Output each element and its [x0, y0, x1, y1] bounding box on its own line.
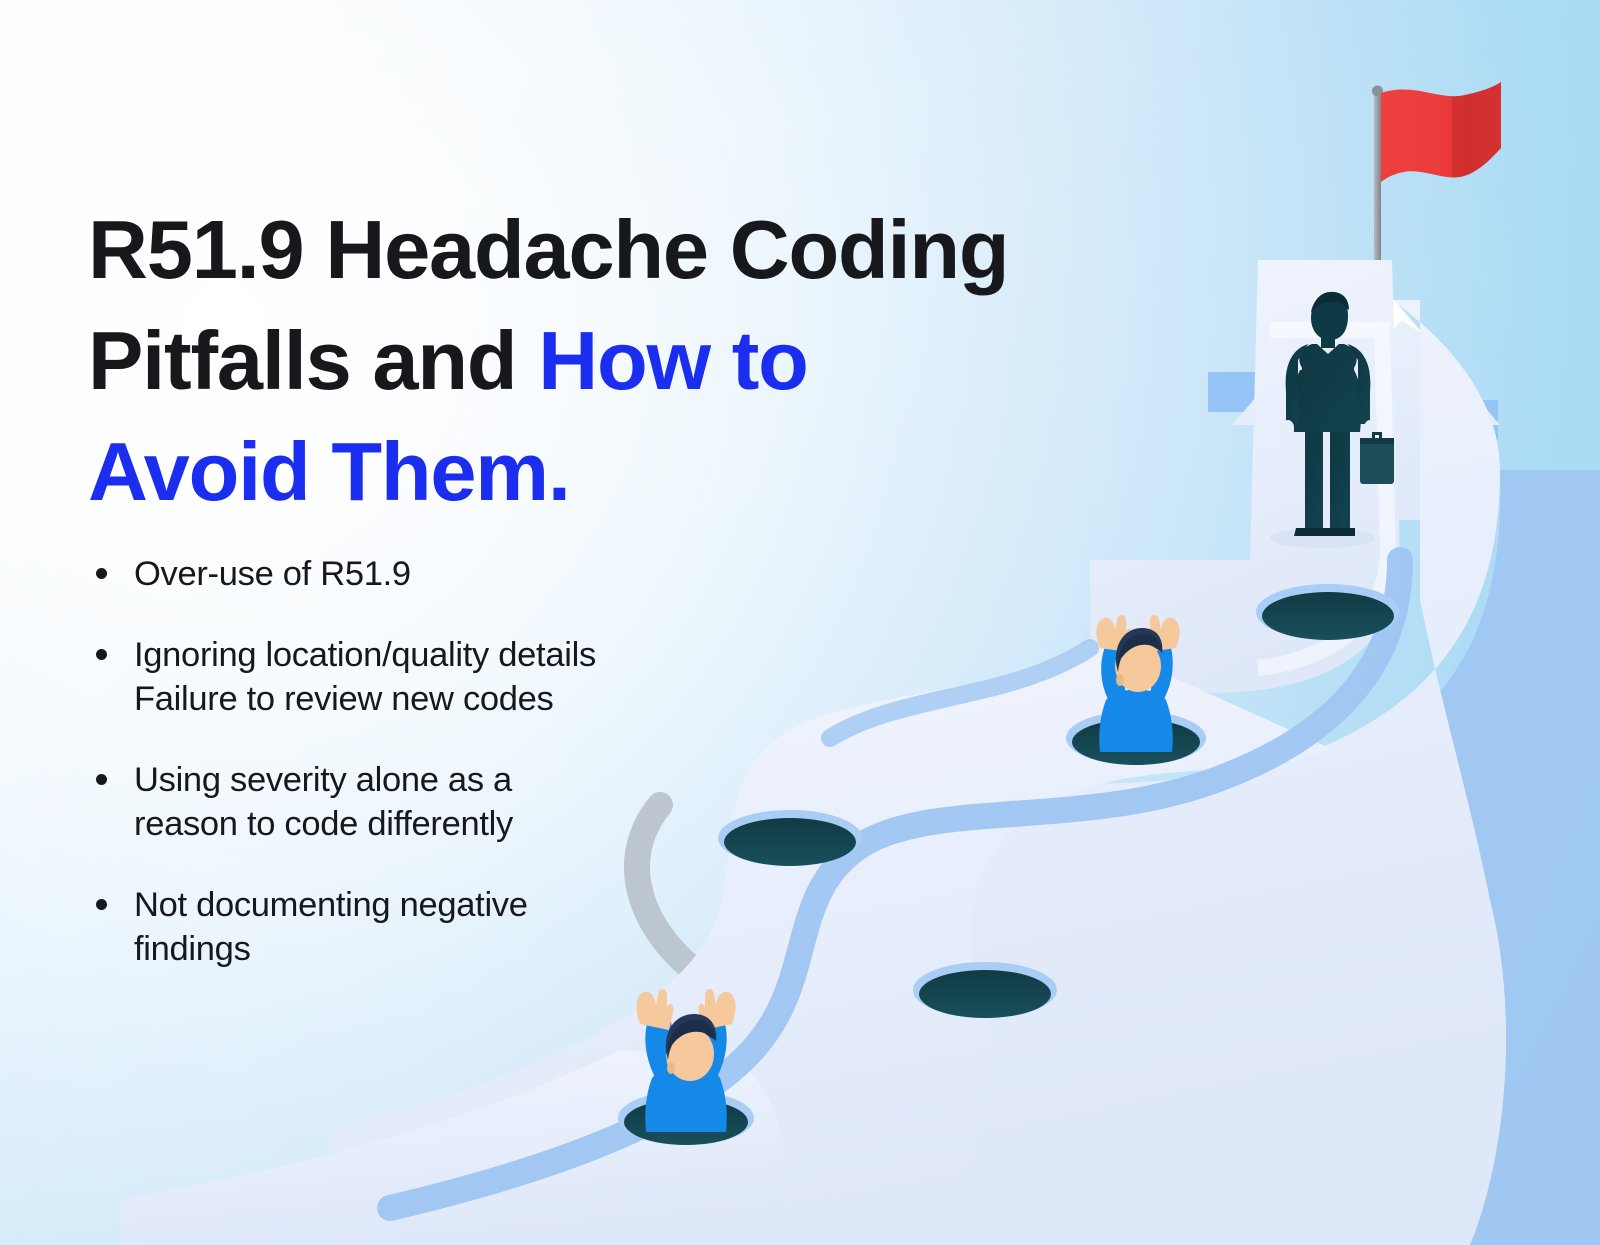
infographic-poster: R51.9 Headache Coding Pitfalls and How t… — [0, 0, 1600, 1245]
list-item-text: Ignoring location/quality details Failur… — [134, 633, 728, 722]
pitfalls-list: Over-use of R51.9 Ignoring location/qual… — [88, 552, 728, 972]
person-in-hole-upper — [1097, 615, 1180, 752]
bullet-dot-icon — [96, 568, 107, 579]
title-line-1: R51.9 Headache Coding — [88, 194, 1078, 305]
pitfall-hole — [1256, 584, 1400, 640]
pitfall-hole — [913, 962, 1057, 1018]
title-line-2-accent: How to — [538, 314, 807, 407]
page-title: R51.9 Headache Coding Pitfalls and How t… — [88, 194, 1078, 528]
bullet-dot-icon — [96, 774, 107, 785]
list-item-line-1: Ignoring location/quality details — [134, 636, 596, 674]
list-item: Using severity alone as a reason to code… — [88, 758, 728, 847]
list-item-line-2: Failure to review new codes — [134, 677, 728, 722]
pitfall-hole — [718, 810, 862, 866]
title-line-3: Avoid Them. — [88, 416, 1078, 527]
list-item-text: Over-use of R51.9 — [134, 552, 728, 597]
bullet-dot-icon — [96, 649, 107, 660]
briefcase — [1360, 432, 1394, 484]
list-item: Ignoring location/quality details Failur… — [88, 633, 728, 722]
list-item-line-2: reason to code differently — [134, 802, 728, 847]
list-item: Not documenting negative findings — [88, 883, 728, 972]
title-line-2: Pitfalls and How to — [88, 305, 1078, 416]
list-item-line-2: findings — [134, 927, 728, 972]
list-item-text: Using severity alone as a reason to code… — [134, 758, 728, 847]
bullet-dot-icon — [96, 899, 107, 910]
list-item-line-1: Over-use of R51.9 — [134, 555, 411, 593]
list-item-text: Not documenting negative findings — [134, 883, 728, 972]
list-item: Over-use of R51.9 — [88, 552, 728, 597]
title-line-2-dark: Pitfalls and — [88, 314, 538, 407]
list-item-line-1: Using severity alone as a — [134, 761, 512, 799]
red-flag — [1372, 82, 1501, 290]
list-item-line-1: Not documenting negative — [134, 886, 528, 924]
